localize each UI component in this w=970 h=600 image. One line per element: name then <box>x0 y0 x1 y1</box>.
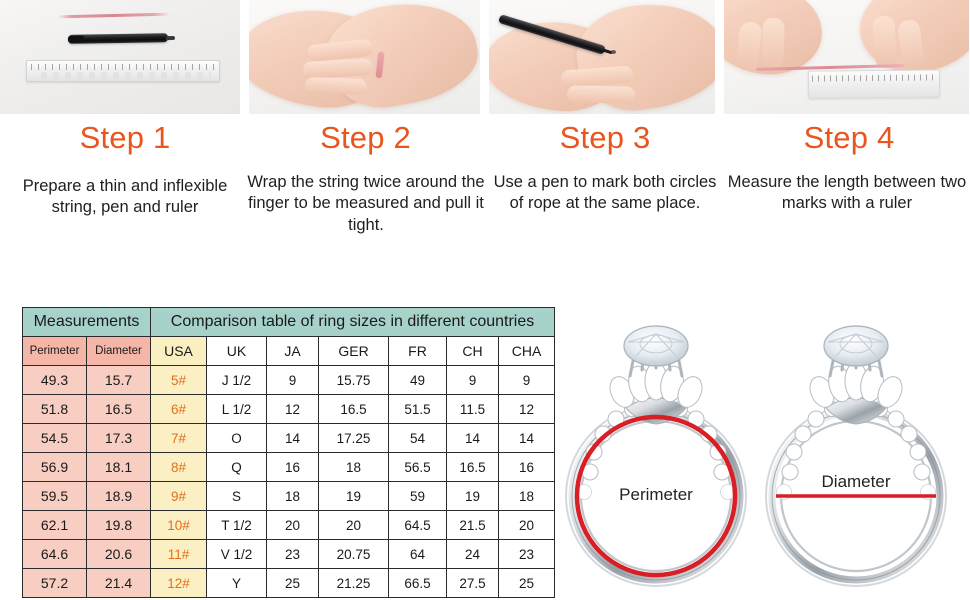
cell-cha-4: 18 <box>499 482 555 511</box>
cell-perimeter-3: 56.9 <box>23 453 87 482</box>
cell-fr-6: 64 <box>389 540 447 569</box>
cell-cha-5: 20 <box>499 511 555 540</box>
column-header-cha: CHA <box>499 337 555 366</box>
table-row: 51.816.56#L 1/21216.551.511.512 <box>23 395 555 424</box>
cell-cha-0: 9 <box>499 366 555 395</box>
cell-usa-3: 8# <box>151 453 207 482</box>
column-header-uk: UK <box>207 337 267 366</box>
teal-edge-marker <box>548 308 551 326</box>
cell-usa-1: 6# <box>151 395 207 424</box>
cell-perimeter-4: 59.5 <box>23 482 87 511</box>
cell-usa-0: 5# <box>151 366 207 395</box>
cell-fr-5: 64.5 <box>389 511 447 540</box>
ruler-ticks <box>812 74 936 81</box>
cell-usa-7: 12# <box>151 569 207 598</box>
cell-ja-4: 18 <box>267 482 319 511</box>
cell-diameter-6: 20.6 <box>87 540 151 569</box>
column-header-perimeter: Perimeter <box>23 337 87 366</box>
cell-perimeter-5: 62.1 <box>23 511 87 540</box>
cell-uk-4: S <box>207 482 267 511</box>
cell-usa-2: 7# <box>151 424 207 453</box>
column-header-ch: CH <box>447 337 499 366</box>
cell-cha-6: 23 <box>499 540 555 569</box>
step-3-photo <box>489 0 715 114</box>
step-4-title: Step 4 <box>728 120 970 156</box>
cell-diameter-5: 19.8 <box>87 511 151 540</box>
cell-ja-3: 16 <box>267 453 319 482</box>
cell-perimeter-6: 64.6 <box>23 540 87 569</box>
cell-ch-2: 14 <box>447 424 499 453</box>
pen-mark <box>611 50 616 54</box>
table-group-header-row: Measurements Comparison table of ring si… <box>23 308 555 337</box>
step-2-title: Step 2 <box>250 120 481 156</box>
cell-fr-1: 51.5 <box>389 395 447 424</box>
cell-fr-0: 49 <box>389 366 447 395</box>
cell-diameter-3: 18.1 <box>87 453 151 482</box>
table-body: 49.315.75#J 1/2915.75499951.816.56#L 1/2… <box>23 366 555 598</box>
cell-usa-5: 10# <box>151 511 207 540</box>
group-header-comparison: Comparison table of ring sizes in differ… <box>151 308 555 337</box>
cell-ja-6: 23 <box>267 540 319 569</box>
step-photo-strip <box>0 0 970 114</box>
perimeter-label: Perimeter <box>556 485 756 505</box>
diameter-label: Diameter <box>756 472 956 492</box>
cell-ger-6: 20.75 <box>319 540 389 569</box>
cell-uk-7: Y <box>207 569 267 598</box>
cell-ger-0: 15.75 <box>319 366 389 395</box>
cell-ger-3: 18 <box>319 453 389 482</box>
step-1-description: Prepare a thin and inflexible string, pe… <box>12 176 238 219</box>
table-row: 57.221.412#Y2521.2566.527.525 <box>23 569 555 598</box>
step-4-photo <box>724 0 969 114</box>
step-4-description: Measure the length between two marks wit… <box>724 172 970 215</box>
cell-ger-5: 20 <box>319 511 389 540</box>
perimeter-ring-diagram: Perimeter <box>556 300 756 600</box>
cell-perimeter-0: 49.3 <box>23 366 87 395</box>
column-header-fr: FR <box>389 337 447 366</box>
cell-ger-4: 19 <box>319 482 389 511</box>
cell-uk-1: L 1/2 <box>207 395 267 424</box>
step-2-description: Wrap the string twice around the finger … <box>244 172 488 236</box>
cell-ja-7: 25 <box>267 569 319 598</box>
cell-ch-1: 11.5 <box>447 395 499 424</box>
cell-diameter-4: 18.9 <box>87 482 151 511</box>
table-row: 54.517.37#O1417.25541414 <box>23 424 555 453</box>
table-row: 62.119.810#T 1/2202064.521.520 <box>23 511 555 540</box>
cell-ch-6: 24 <box>447 540 499 569</box>
ruler-object <box>808 69 940 98</box>
cell-fr-2: 54 <box>389 424 447 453</box>
cell-cha-2: 14 <box>499 424 555 453</box>
ruler-holes <box>35 72 211 79</box>
cell-perimeter-7: 57.2 <box>23 569 87 598</box>
cell-usa-4: 9# <box>151 482 207 511</box>
step-3-title: Step 3 <box>492 120 718 156</box>
cell-ja-1: 12 <box>267 395 319 424</box>
column-header-ger: GER <box>319 337 389 366</box>
cell-uk-0: J 1/2 <box>207 366 267 395</box>
table-row: 49.315.75#J 1/2915.754999 <box>23 366 555 395</box>
cell-perimeter-1: 51.8 <box>23 395 87 424</box>
cell-ger-2: 17.25 <box>319 424 389 453</box>
cell-ger-7: 21.25 <box>319 569 389 598</box>
table-head: Measurements Comparison table of ring si… <box>23 308 555 366</box>
cell-diameter-1: 16.5 <box>87 395 151 424</box>
table-row: 64.620.611#V 1/22320.75642423 <box>23 540 555 569</box>
ruler-ticks <box>31 64 215 70</box>
step-1-photo <box>0 0 240 114</box>
cell-ch-7: 27.5 <box>447 569 499 598</box>
cell-diameter-2: 17.3 <box>87 424 151 453</box>
column-header-ja: JA <box>267 337 319 366</box>
cell-usa-6: 11# <box>151 540 207 569</box>
cell-ja-5: 20 <box>267 511 319 540</box>
cell-cha-1: 12 <box>499 395 555 424</box>
cell-perimeter-2: 54.5 <box>23 424 87 453</box>
group-header-measurements: Measurements <box>23 308 151 337</box>
cell-uk-5: T 1/2 <box>207 511 267 540</box>
ruler-object <box>26 60 220 82</box>
table-row: 59.518.99#S1819591918 <box>23 482 555 511</box>
step-3-description: Use a pen to mark both circles of rope a… <box>490 172 720 215</box>
cell-ja-0: 9 <box>267 366 319 395</box>
cell-fr-3: 56.5 <box>389 453 447 482</box>
cell-ch-4: 19 <box>447 482 499 511</box>
table-row: 56.918.18#Q161856.516.516 <box>23 453 555 482</box>
cell-diameter-0: 15.7 <box>87 366 151 395</box>
finger <box>567 85 635 103</box>
cell-uk-3: Q <box>207 453 267 482</box>
ring-size-table: Measurements Comparison table of ring si… <box>22 307 555 598</box>
cell-ger-1: 16.5 <box>319 395 389 424</box>
column-header-diameter: Diameter <box>87 337 151 366</box>
cell-ja-2: 14 <box>267 424 319 453</box>
column-header-usa: USA <box>151 337 207 366</box>
finger <box>761 18 785 69</box>
cell-cha-7: 25 <box>499 569 555 598</box>
ring-size-table-container: Measurements Comparison table of ring si… <box>22 307 540 598</box>
finger <box>305 77 368 95</box>
cell-fr-7: 66.5 <box>389 569 447 598</box>
step-2-photo <box>249 0 480 114</box>
diameter-ring-illustration <box>756 300 956 600</box>
perimeter-ring-illustration <box>556 300 756 600</box>
cell-ch-0: 9 <box>447 366 499 395</box>
cell-fr-4: 59 <box>389 482 447 511</box>
cell-cha-3: 16 <box>499 453 555 482</box>
cell-uk-2: O <box>207 424 267 453</box>
ring-diagrams-panel: Perimeter <box>548 300 970 600</box>
table-column-header-row: PerimeterDiameterUSAUKJAGERFRCHCHA <box>23 337 555 366</box>
diameter-ring-diagram: Diameter <box>756 300 956 600</box>
step-1-title: Step 1 <box>10 120 240 156</box>
cell-ch-3: 16.5 <box>447 453 499 482</box>
pen-object <box>68 33 168 44</box>
cell-ch-5: 21.5 <box>447 511 499 540</box>
cell-uk-6: V 1/2 <box>207 540 267 569</box>
photo-background <box>0 0 240 114</box>
cell-diameter-7: 21.4 <box>87 569 151 598</box>
finger <box>872 15 898 68</box>
